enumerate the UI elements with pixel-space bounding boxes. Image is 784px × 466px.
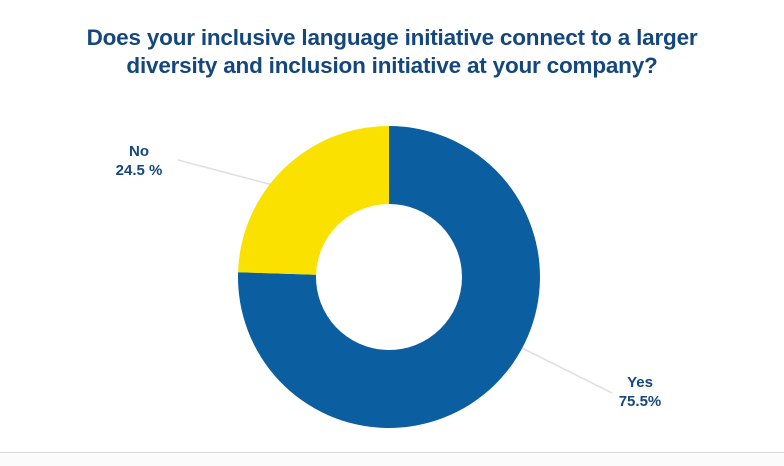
donut-slice-no xyxy=(238,126,389,275)
slice-label-no: No 24.5 % xyxy=(60,142,218,180)
footer-divider xyxy=(0,452,784,453)
slice-label-yes-value: 75.5% xyxy=(560,392,720,411)
donut-slices xyxy=(238,126,540,428)
slice-label-no-value: 24.5 % xyxy=(60,161,218,180)
chart-canvas: Does your inclusive language initiative … xyxy=(0,0,784,466)
slice-label-no-name: No xyxy=(60,142,218,161)
slice-label-yes: Yes 75.5% xyxy=(560,373,720,411)
slice-label-yes-name: Yes xyxy=(560,373,720,392)
footer-band xyxy=(0,453,784,466)
